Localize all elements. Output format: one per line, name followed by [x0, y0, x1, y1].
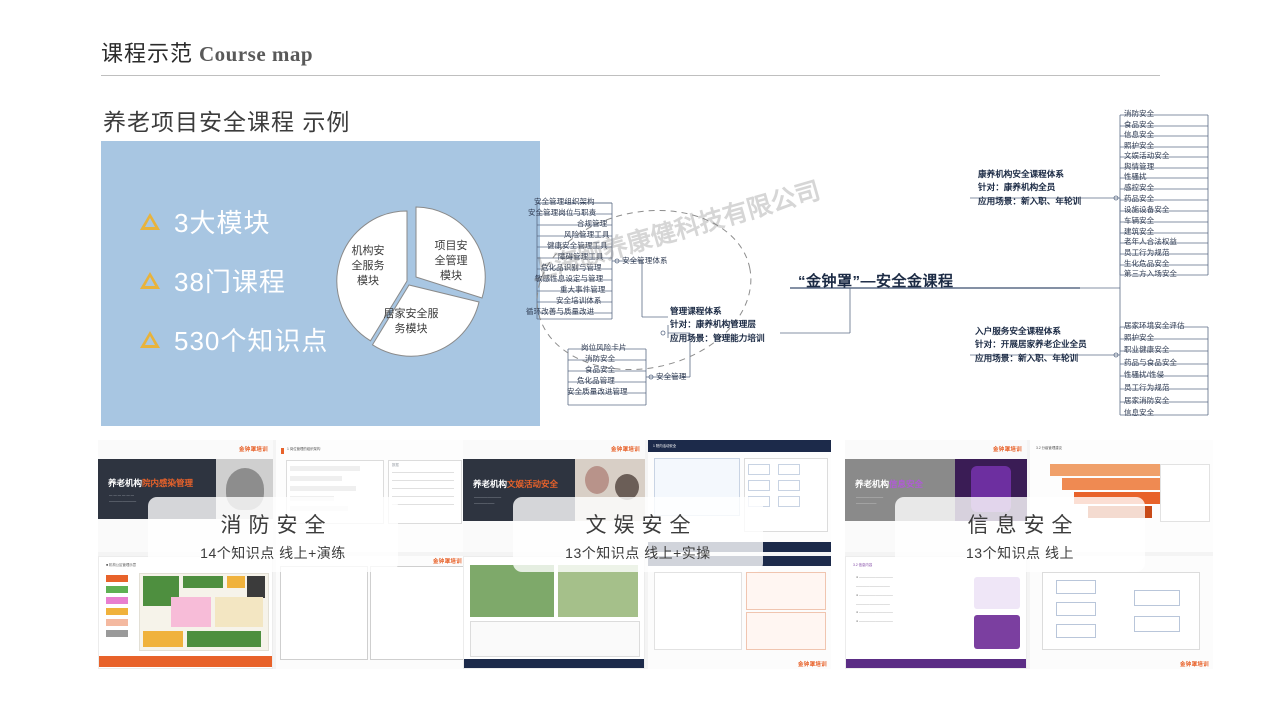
bullet-label: 530个知识点 — [174, 321, 328, 358]
module-pie-chart: 机构安 全服务 模块 项目安 全管理 模块 居家安全服 务模块 — [325, 197, 495, 367]
mindmap-leaf: 安全质量改进管理 — [567, 386, 628, 397]
pie-label-institution: 机构安 全服务 模块 — [337, 244, 399, 289]
mindmap-leaf: 照护安全 — [1124, 332, 1154, 343]
mindmap-leaf: 药品安全 — [1124, 193, 1154, 204]
mindmap-leaf: 文娱活动安全 — [1124, 150, 1170, 161]
thumb-title: 养老机构院内感染管理 — [108, 477, 193, 489]
page-header: 课程示范 Course map — [101, 36, 313, 68]
mindmap-leaf: 感控安全 — [1124, 182, 1154, 193]
thumb-slide-3 — [463, 556, 645, 669]
pie-label-home: 居家安全服 务模块 — [373, 307, 449, 337]
mindmap-node-safety-management: 安全管理 — [656, 371, 686, 382]
mindmap-leaf: 第三方入场安全 — [1124, 268, 1177, 279]
mindmap-leaf: 设施设备安全 — [1124, 204, 1170, 215]
bullet-label: 38门课程 — [174, 262, 286, 299]
card-subtitle: 13个知识点 线上+实操 — [513, 543, 763, 563]
bullet-label: 3大模块 — [174, 203, 270, 240]
mindmap-leaf: 老年人合法权益 — [1124, 236, 1177, 247]
mindmap-leaf: 安全管理组织架构 — [534, 196, 595, 207]
mindmap-leaf: 性骚扰 — [1124, 171, 1147, 182]
triangle-bullet-icon — [140, 213, 160, 230]
card-title: 文娱安全 — [513, 509, 763, 539]
bullet-list: 3大模块 38门课程 530个知识点 — [140, 203, 328, 380]
mindmap-leaf: 车辆安全 — [1124, 215, 1154, 226]
brand-logo: 金钟罩培训 — [611, 445, 640, 453]
card-title: 信息安全 — [895, 509, 1145, 539]
course-card-row: 金钟罩培训 养老机构院内感染管理 — — — — — ————————— 1 岗… — [0, 440, 1262, 670]
page-title-cn: 课程示范 — [101, 36, 193, 68]
triangle-bullet-icon — [140, 272, 160, 289]
brand-logo: 金钟罩培训 — [433, 557, 462, 565]
mindmap-block-home-service: 入户服务安全课程体系 针对：开展居家养老企业全员 应用场景：新入职、年轮训 — [975, 325, 1087, 365]
section-subtitle: 养老项目安全课程 示例 — [103, 103, 350, 137]
brand-logo: 金钟罩培训 — [239, 445, 268, 453]
header-divider — [101, 75, 1160, 76]
thumb-slide-3: ■ 机构公区管理示意 — [98, 556, 273, 669]
brand-logo: 金钟罩培训 — [1180, 660, 1209, 668]
mindmap-leaf: 消防安全 — [1124, 108, 1154, 119]
thumb-slide-4: 金钟罩培训 — [276, 556, 466, 669]
bullet-item: 3大模块 — [140, 203, 328, 240]
page-title-en: Course map — [199, 42, 313, 67]
mindmap-leaf: 性骚扰/性侵 — [1124, 369, 1164, 380]
mindmap-leaf: 信息安全 — [1124, 129, 1154, 140]
thumb-slide-4: 金钟罩培训 — [648, 556, 831, 669]
mindmap-leaf: 员工行为规范 — [1124, 382, 1170, 393]
brand-logo: 金钟罩培训 — [798, 660, 827, 668]
course-card-fire-safety[interactable]: 金钟罩培训 养老机构院内感染管理 — — — — — ————————— 1 岗… — [98, 440, 466, 669]
section-label: 1 院内活动安全 — [653, 443, 676, 449]
mindmap-leaf: 药品与食品安全 — [1124, 357, 1177, 368]
bullet-item: 38门课程 — [140, 262, 328, 299]
card-subtitle: 14个知识点 线上+演练 — [148, 543, 398, 563]
thumb-slide-4: 金钟罩培训 — [1030, 556, 1213, 669]
mindmap-leaf: 职业健康安全 — [1124, 344, 1170, 355]
card-title: 消防安全 — [148, 509, 398, 539]
mindmap-leaf: 居家消防安全 — [1124, 395, 1170, 406]
summary-panel: 3大模块 38门课程 530个知识点 机构安 — [101, 141, 540, 426]
mindmap-leaf: 员工行为规范 — [1124, 247, 1170, 258]
mindmap-block-institution: 康养机构安全课程体系 针对：康养机构全员 应用场景：新入职、年轮训 — [978, 168, 1081, 208]
brand-logo: 金钟罩培训 — [993, 445, 1022, 453]
section-label: 3.2 分级管理建议 — [1036, 445, 1062, 451]
card-overlay-information-safety: 信息安全 13个知识点 线上 — [895, 497, 1145, 572]
mindmap-leaf: 居家环境安全评估 — [1124, 320, 1185, 331]
mindmap-leaf: 安全管理岗位与职责 — [528, 207, 596, 218]
thumb-title: 养老机构信息安全 — [855, 478, 923, 490]
bullet-item: 530个知识点 — [140, 321, 328, 358]
mindmap-leaf: 信息安全 — [1124, 407, 1154, 418]
pie-label-project: 项目安 全管理 模块 — [420, 239, 482, 284]
thumb-title: 养老机构文娱活动安全 — [473, 478, 558, 490]
card-overlay-fire-safety: 消防安全 14个知识点 线上+演练 — [148, 497, 398, 572]
mindmap-center-label: “金钟罩”—安全金课程 — [798, 270, 954, 291]
course-card-information-safety[interactable]: 金钟罩培训 养老机构信息安全 —————————————— 3.2 分级管理建议… — [845, 440, 1213, 669]
card-overlay-entertainment-safety: 文娱安全 13个知识点 线上+实操 — [513, 497, 763, 572]
card-subtitle: 13个知识点 线上 — [895, 543, 1145, 563]
mindmap-leaf: 合规管理 — [577, 218, 607, 229]
triangle-bullet-icon — [140, 331, 160, 348]
course-card-entertainment-safety[interactable]: 金钟罩培训 养老机构文娱活动安全 —————————————— 1 院内活动安全 — [463, 440, 831, 669]
thumb-slide-3: 3.2 信息内容 ● ————————————————————● ———————… — [845, 556, 1027, 669]
slide-course-map: 课程示范 Course map 养老项目安全课程 示例 3大模块 38门课程 5… — [0, 0, 1262, 710]
